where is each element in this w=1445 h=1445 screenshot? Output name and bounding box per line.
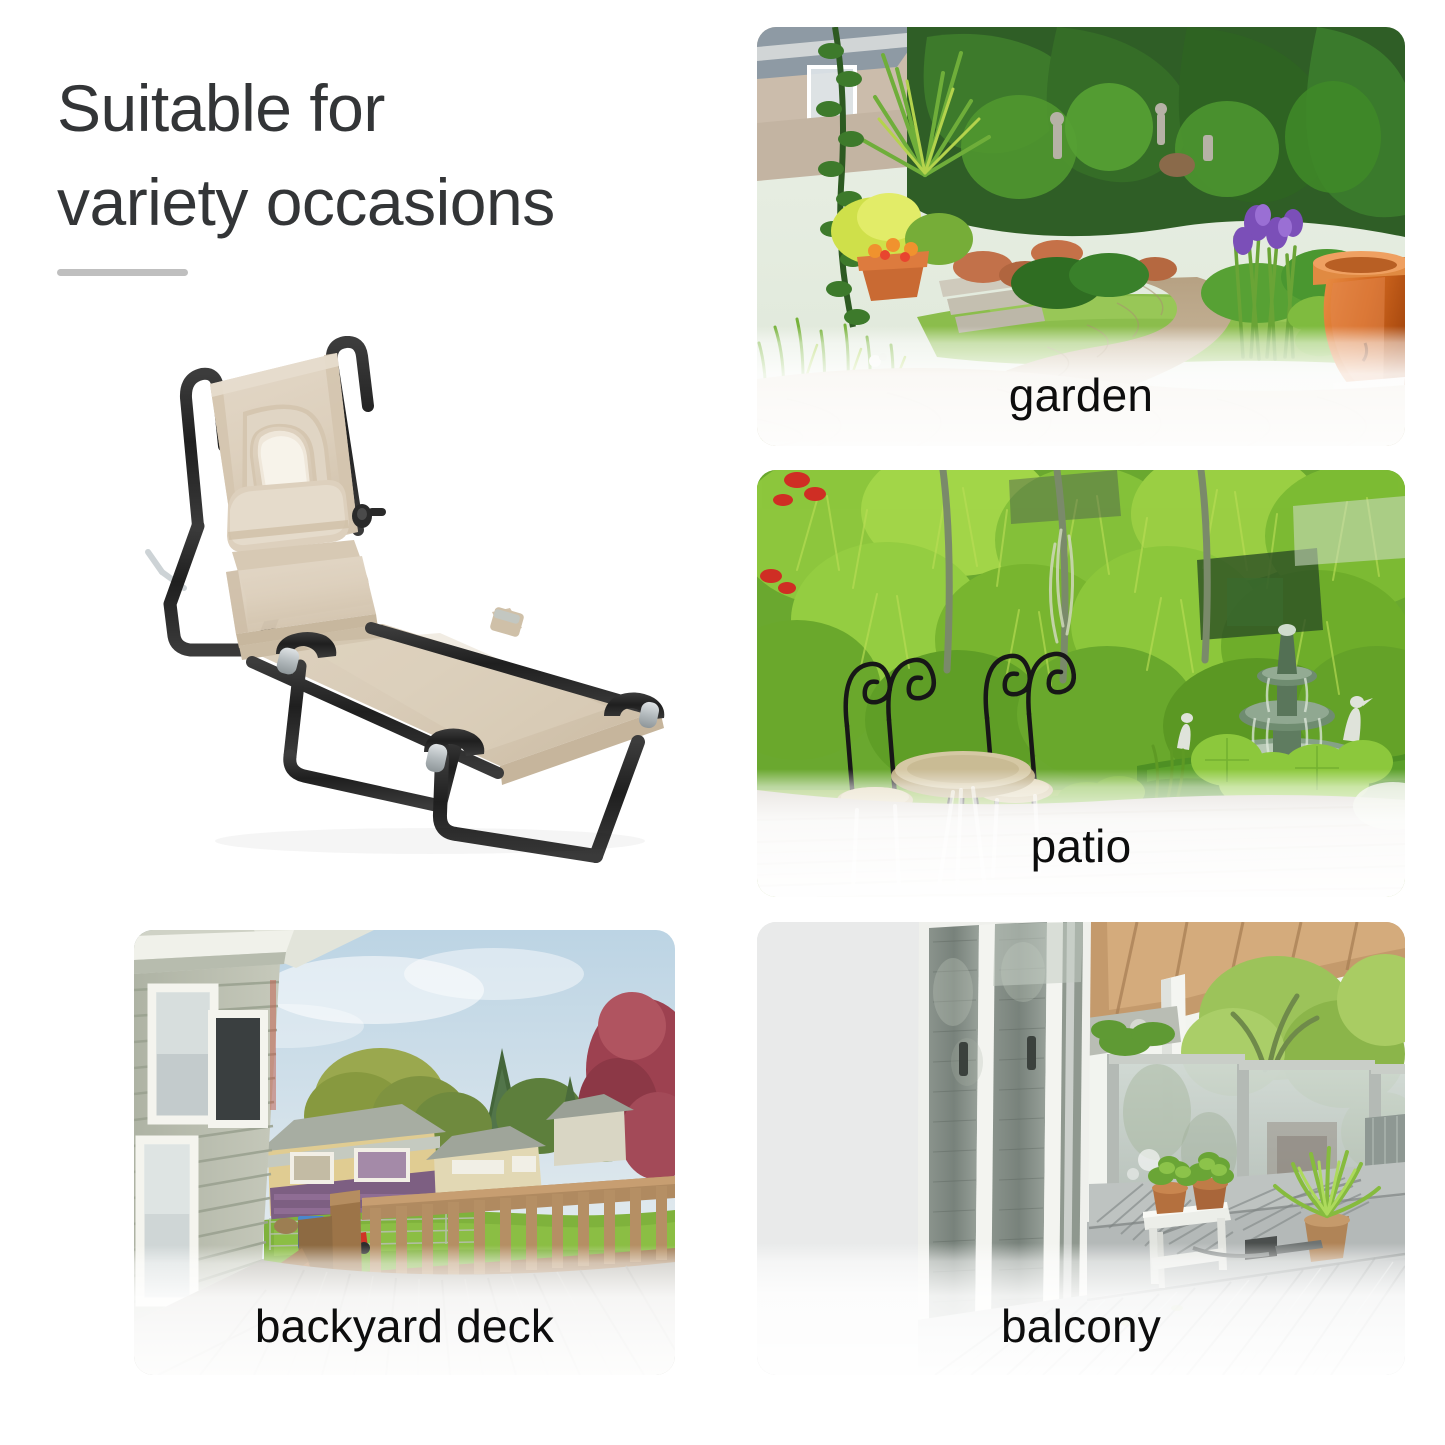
- balcony-caption: balcony: [757, 1303, 1405, 1349]
- headline-line-2: variety occasions: [57, 156, 717, 250]
- headline-block: Suitable for variety occasions: [57, 62, 717, 276]
- headline-line-1: Suitable for: [57, 62, 717, 156]
- patio-caption: patio: [757, 823, 1405, 869]
- product-image-chaise-lounge: [140, 336, 700, 866]
- garden-caption: garden: [757, 372, 1405, 418]
- headline-divider: [57, 269, 188, 276]
- card-garden[interactable]: garden: [757, 27, 1405, 446]
- card-balcony[interactable]: balcony: [757, 922, 1405, 1375]
- card-patio[interactable]: patio: [757, 470, 1405, 897]
- card-backyard-deck[interactable]: backyard deck: [134, 930, 675, 1375]
- backyard-deck-caption: backyard deck: [134, 1303, 675, 1349]
